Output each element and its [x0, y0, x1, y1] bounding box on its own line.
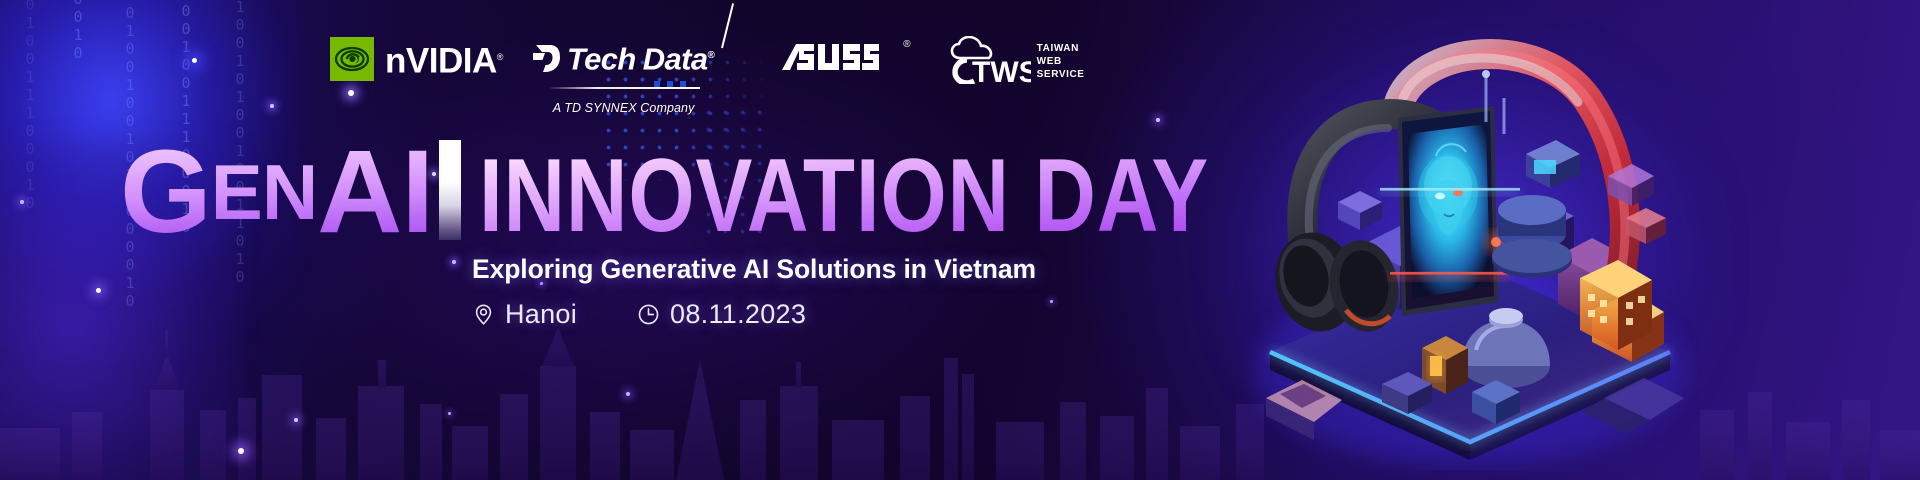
glow-particle [1156, 118, 1160, 122]
nvidia-wordmark: nVIDIA® [385, 35, 503, 84]
techdata-underline-decor [552, 80, 700, 90]
tws-line-2: WEB [1037, 56, 1085, 67]
sponsor-logo-asus[interactable]: ® [780, 36, 910, 80]
event-location: Hanoi [472, 299, 577, 330]
glow-particle [96, 288, 101, 293]
glow-particle [238, 448, 244, 454]
techdata-wordmark: TechData® [567, 38, 714, 77]
svg-text:TWS: TWS [972, 56, 1031, 84]
asus-logo-icon [780, 40, 900, 74]
genai-innovation-day-banner: 0010 101001001011000010 10010011100010 1… [0, 0, 1920, 480]
glow-particle [448, 412, 451, 415]
genai-wordmark: GENAI [120, 140, 433, 244]
genai-g: G [120, 140, 211, 244]
glow-particle [192, 58, 197, 63]
location-pin-icon [472, 303, 495, 326]
techdata-slash-decor [721, 3, 734, 48]
glow-particle [20, 200, 24, 204]
binary-column: 0010 [70, 0, 85, 62]
innovation-day-title: INNOVATION DAY [479, 148, 1209, 244]
main-title-row: GENAI INNOVATION DAY [120, 140, 1370, 244]
location-label: Hanoi [505, 299, 577, 330]
sponsor-logo-row: nVIDIA® TechData® A TD SYNNEX Company [330, 36, 1085, 115]
nvidia-eye-icon [330, 37, 374, 81]
title-divider-bar [439, 140, 461, 240]
tws-line-1: TAIWAN [1037, 43, 1085, 54]
genai-ai: AI [317, 140, 433, 244]
event-subtitle: Exploring Generative AI Solutions in Vie… [472, 254, 1370, 285]
event-meta-row: Hanoi 08.11.2023 [472, 299, 1370, 330]
registered-mark: ® [497, 52, 503, 62]
glow-particle [270, 104, 274, 108]
glow-particle [294, 418, 298, 422]
techdata-d-icon [533, 43, 560, 73]
tws-cloud-icon: TWS [945, 36, 1031, 84]
sponsor-logo-nvidia[interactable]: nVIDIA® [330, 36, 503, 82]
techdata-tagline: A TD SYNNEX Company [553, 101, 695, 115]
date-label: 08.11.2023 [670, 299, 806, 330]
event-date: 08.11.2023 [637, 299, 806, 330]
clock-icon [637, 303, 660, 326]
sponsor-logo-techdata[interactable]: TechData® A TD SYNNEX Company [533, 36, 714, 115]
registered-mark: ® [708, 50, 715, 61]
binary-column: 10010011100010 [22, 0, 37, 212]
sponsor-logo-tws[interactable]: TWS TAIWAN WEB SERVICE [945, 36, 1085, 84]
tws-line-3: SERVICE [1037, 69, 1085, 80]
headline-block: GENAI INNOVATION DAY Exploring Generativ… [120, 140, 1370, 330]
registered-mark: ® [903, 39, 910, 50]
tws-tagline-lines: TAIWAN WEB SERVICE [1037, 43, 1085, 80]
glow-particle [626, 392, 630, 396]
genai-en: EN [211, 140, 317, 244]
